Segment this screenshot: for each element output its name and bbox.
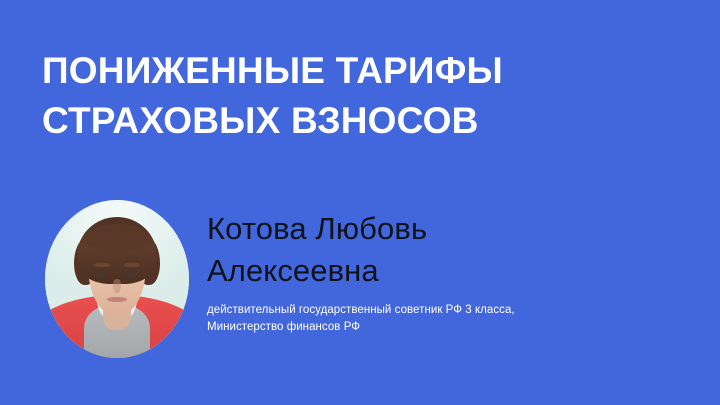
speaker-portrait-avatar — [45, 200, 189, 358]
portrait-eye-right — [127, 270, 138, 277]
speaker-name-line-2: Алексеевна — [207, 250, 677, 292]
portrait-nose — [113, 279, 120, 293]
speaker-name-line-1: Котова Любовь — [207, 208, 677, 250]
speaker-text-block: Котова Любовь Алексеевна действительный … — [207, 208, 677, 336]
portrait-fringe — [87, 224, 148, 251]
presentation-slide: ПОНИЖЕННЫЕ ТАРИФЫ СТРАХОВЫХ ВЗНОСОВ — [0, 0, 720, 405]
speaker-role-line-1: действительный государственный советник … — [207, 302, 677, 319]
speaker-role: действительный государственный советник … — [207, 302, 677, 336]
portrait-eyebrow-left — [94, 263, 110, 267]
slide-title-line-2: СТРАХОВЫХ ВЗНОСОВ — [42, 96, 662, 146]
speaker-block: Котова Любовь Алексеевна действительный … — [45, 200, 685, 360]
portrait-photo — [45, 200, 189, 358]
speaker-role-line-2: Министерство финансов РФ — [207, 319, 677, 336]
portrait-mouth — [107, 297, 127, 302]
portrait-eye-left — [96, 270, 107, 277]
slide-title: ПОНИЖЕННЫЕ ТАРИФЫ СТРАХОВЫХ ВЗНОСОВ — [42, 46, 662, 146]
slide-title-line-1: ПОНИЖЕННЫЕ ТАРИФЫ — [42, 46, 662, 96]
